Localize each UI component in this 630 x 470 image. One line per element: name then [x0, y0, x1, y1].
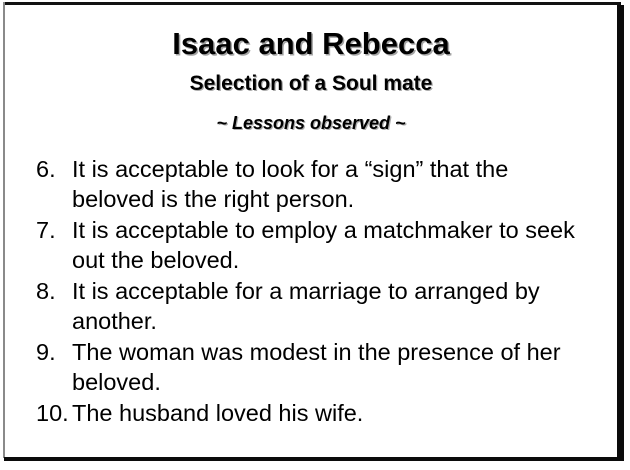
list-item: 6. It is acceptable to look for a “sign”… [36, 154, 592, 214]
list-item: 8. It is acceptable for a marriage to ar… [36, 276, 592, 336]
slide-border-top [3, 2, 621, 5]
list-item: 10. The husband loved his wife. [36, 398, 592, 428]
slide-content: Isaac and Rebecca Selection of a Soul ma… [6, 6, 616, 456]
slide-border-bottom [4, 457, 624, 461]
list-item-text: The woman was modest in the presence of … [72, 337, 582, 397]
slide-border-right [617, 5, 624, 461]
slide-title: Isaac and Rebecca [6, 28, 616, 59]
slide-border-left [3, 2, 5, 458]
list-item-number: 6. [36, 154, 72, 184]
lesson-list: 6. It is acceptable to look for a “sign”… [6, 154, 616, 428]
list-item-number: 8. [36, 276, 72, 306]
list-item: 9. The woman was modest in the presence … [36, 337, 592, 397]
list-item-number: 10. [36, 398, 72, 428]
list-item: 7. It is acceptable to employ a matchmak… [36, 215, 592, 275]
list-item-text: The husband loved his wife. [72, 398, 582, 428]
list-item-text: It is acceptable for a marriage to arran… [72, 276, 582, 336]
list-item-text: It is acceptable to employ a matchmaker … [72, 215, 582, 275]
list-item-number: 7. [36, 215, 72, 245]
list-item-number: 9. [36, 337, 72, 367]
presentation-slide: Isaac and Rebecca Selection of a Soul ma… [0, 0, 630, 470]
slide-subtitle: Selection of a Soul mate [6, 73, 616, 94]
slide-tagline: ~ Lessons observed ~ [6, 114, 616, 132]
list-item-text: It is acceptable to look for a “sign” th… [72, 154, 582, 214]
